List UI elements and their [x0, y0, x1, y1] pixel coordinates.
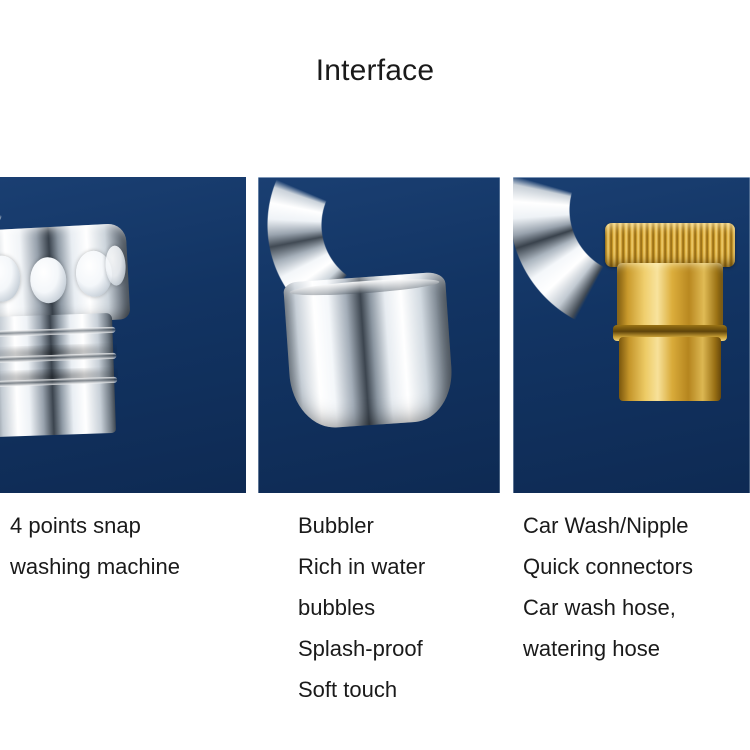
caption-area: 4 points snap washing machine Bubbler Ri… — [0, 505, 750, 750]
caption-line: Rich in water — [298, 546, 508, 587]
faucet-spout-snap-illustration — [0, 177, 234, 369]
caption-column-bubbler: Bubbler Rich in water bubbles Splash-pro… — [298, 505, 508, 710]
caption-line: Soft touch — [298, 669, 508, 710]
page-title: Interface — [0, 56, 750, 86]
brass-knurled-collar-shape — [605, 223, 735, 267]
caption-line: Car wash hose, — [523, 587, 750, 628]
caption-line: Quick connectors — [523, 546, 750, 587]
bubbler-cap-shape — [283, 272, 455, 431]
product-panel-car-wash — [513, 177, 750, 493]
barrel-rib-1 — [0, 327, 116, 338]
snap-point-2-icon — [29, 256, 67, 304]
caption-column-car-wash: Car Wash/Nipple Quick connectors Car was… — [523, 505, 750, 669]
faucet-spout-car-wash-illustration — [513, 177, 750, 385]
product-panel-bubbler — [258, 177, 500, 493]
brass-barrel-shape — [617, 263, 723, 329]
brass-tip-shape — [619, 337, 721, 401]
caption-line: washing machine — [10, 546, 254, 587]
snap-collar-shape — [0, 223, 130, 327]
caption-line: bubbles — [298, 587, 508, 628]
caption-column-snap: 4 points snap washing machine — [10, 505, 254, 587]
product-panel-strip — [0, 177, 750, 493]
ribbed-barrel-shape — [0, 313, 116, 437]
caption-line: Splash-proof — [298, 628, 508, 669]
product-panel-snap — [0, 177, 246, 493]
caption-line: 4 points snap — [10, 505, 254, 546]
caption-line: Car Wash/Nipple — [523, 505, 750, 546]
caption-line: Bubbler — [298, 505, 508, 546]
caption-line: watering hose — [523, 628, 750, 669]
faucet-spout-bubbler-illustration — [266, 177, 500, 407]
snap-point-1-icon — [0, 255, 21, 303]
